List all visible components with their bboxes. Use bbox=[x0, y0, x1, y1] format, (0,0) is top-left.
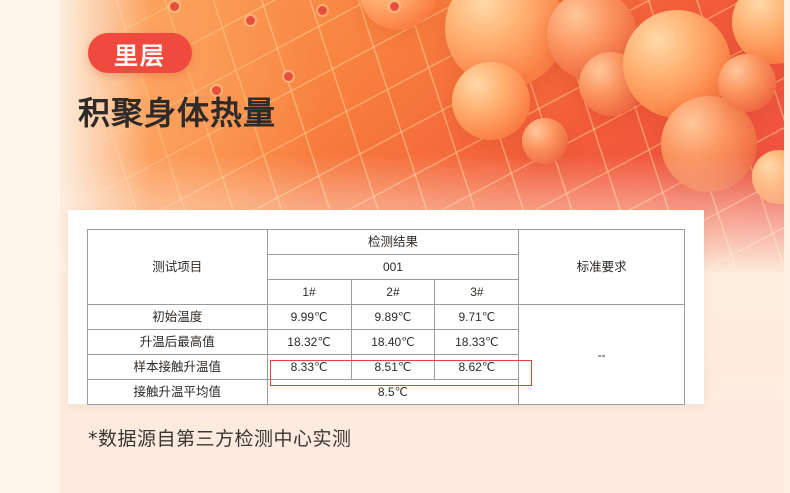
bubble bbox=[452, 62, 530, 140]
spec-table-card: 测试项目 检测结果 标准要求 001 1# 2# 3# 初始温度 9.99℃ 9… bbox=[68, 210, 704, 404]
header-col-2: 2# bbox=[351, 280, 435, 305]
mesh-node bbox=[284, 72, 293, 81]
row-label: 样本接触升温值 bbox=[88, 355, 268, 380]
row-value: 8.33℃ bbox=[267, 355, 351, 380]
page-root: 里层 积聚身体热量 测试项目 检测结果 标准要求 001 1# 2# 3# 初始… bbox=[0, 0, 790, 493]
mesh-node bbox=[170, 2, 179, 11]
mesh-node bbox=[390, 2, 399, 11]
row-value: 9.99℃ bbox=[267, 305, 351, 330]
table-header-row-1: 测试项目 检测结果 标准要求 bbox=[88, 230, 685, 255]
page-title: 积聚身体热量 bbox=[78, 88, 276, 134]
header-result-group: 检测结果 bbox=[267, 230, 519, 255]
row-value: 8.51℃ bbox=[351, 355, 435, 380]
row-value: 18.40℃ bbox=[351, 330, 435, 355]
row-label: 初始温度 bbox=[88, 305, 268, 330]
row-label: 升温后最高值 bbox=[88, 330, 268, 355]
average-value: 8.5℃ bbox=[267, 380, 519, 405]
table-row: 初始温度 9.99℃ 9.89℃ 9.71℃ -- bbox=[88, 305, 685, 330]
section-badge: 里层 bbox=[88, 33, 192, 73]
row-value: 18.33℃ bbox=[435, 330, 519, 355]
row-value: 9.71℃ bbox=[435, 305, 519, 330]
row-value: 9.89℃ bbox=[351, 305, 435, 330]
header-sample-id: 001 bbox=[267, 255, 519, 280]
left-gutter bbox=[0, 0, 60, 493]
right-edge bbox=[784, 0, 790, 493]
bubble bbox=[718, 54, 776, 112]
header-col-1: 1# bbox=[267, 280, 351, 305]
spec-table: 测试项目 检测结果 标准要求 001 1# 2# 3# 初始温度 9.99℃ 9… bbox=[87, 229, 685, 405]
header-standard-requirement: 标准要求 bbox=[519, 230, 685, 305]
standard-value: -- bbox=[519, 305, 685, 405]
footnote: *数据源自第三方检测中心实测 bbox=[88, 424, 352, 451]
row-value: 18.32℃ bbox=[267, 330, 351, 355]
row-value: 8.62℃ bbox=[435, 355, 519, 380]
average-label: 接触升温平均值 bbox=[88, 380, 268, 405]
header-col-3: 3# bbox=[435, 280, 519, 305]
mesh-node bbox=[318, 6, 327, 15]
mesh-node bbox=[246, 16, 255, 25]
header-test-item: 测试项目 bbox=[88, 230, 268, 305]
